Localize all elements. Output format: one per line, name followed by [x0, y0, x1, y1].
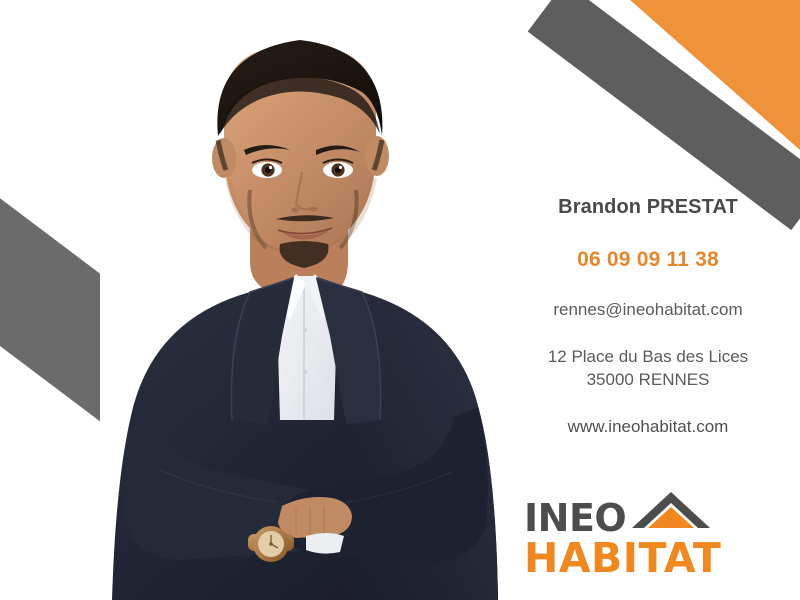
logo-secondary-text: HABITAT	[524, 538, 774, 579]
business-card: Brandon PRESTAT 06 09 09 11 38 rennes@in…	[0, 0, 800, 600]
address-line-2: 35000 RENNES	[498, 369, 798, 392]
company-logo[interactable]: INEO HABITAT	[524, 494, 774, 590]
contact-phone[interactable]: 06 09 09 11 38	[498, 248, 798, 271]
portrait-illustration	[100, 0, 520, 600]
top-right-orange-corner	[630, 0, 800, 150]
logo-primary-text: INEO	[524, 501, 626, 536]
contact-info-block: Brandon PRESTAT 06 09 09 11 38 rennes@in…	[498, 196, 798, 436]
portrait-photo	[100, 0, 520, 600]
contact-address: 12 Place du Bas des Lices 35000 RENNES	[498, 346, 798, 392]
contact-name: Brandon PRESTAT	[498, 196, 798, 218]
contact-website[interactable]: www.ineohabitat.com	[498, 418, 798, 437]
contact-email[interactable]: rennes@ineohabitat.com	[498, 301, 798, 320]
roof-chevron-icon	[630, 490, 712, 537]
address-line-1: 12 Place du Bas des Lices	[498, 346, 798, 369]
logo-top-row: INEO	[524, 494, 774, 536]
